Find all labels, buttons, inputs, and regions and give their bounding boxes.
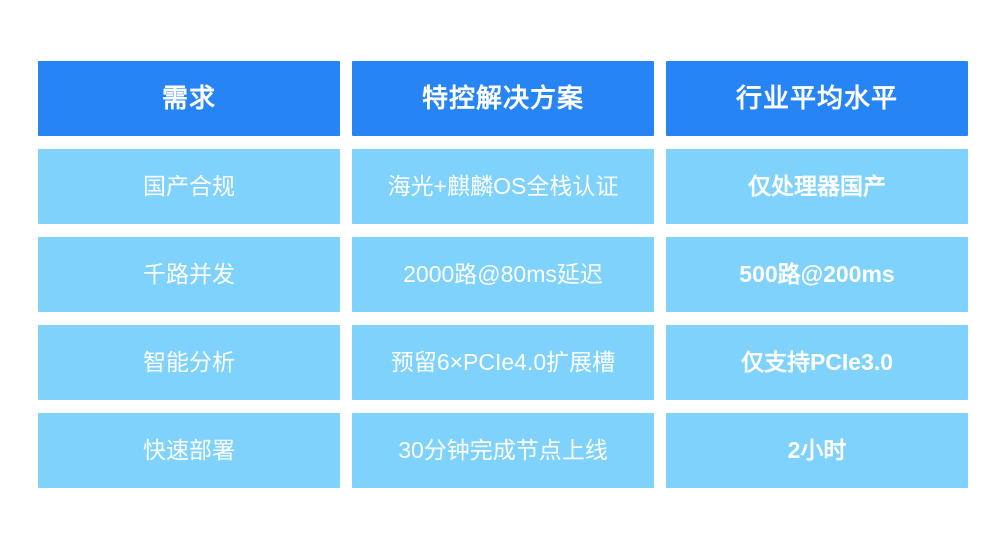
cell-requirement: 千路并发: [38, 237, 340, 312]
table-row: 智能分析 预留6×PCIe4.0扩展槽 仅支持PCIe3.0: [38, 325, 968, 400]
cell-requirement: 快速部署: [38, 413, 340, 488]
cell-industry: 2小时: [666, 413, 968, 488]
cell-requirement: 国产合规: [38, 149, 340, 224]
cell-industry: 仅支持PCIe3.0: [666, 325, 968, 400]
table-header-row: 需求 特控解决方案 行业平均水平: [38, 61, 968, 136]
header-cell-requirement: 需求: [38, 61, 340, 136]
cell-solution: 2000路@80ms延迟: [352, 237, 654, 312]
table-row: 千路并发 2000路@80ms延迟 500路@200ms: [38, 237, 968, 312]
cell-solution: 30分钟完成节点上线: [352, 413, 654, 488]
cell-requirement: 智能分析: [38, 325, 340, 400]
cell-solution: 预留6×PCIe4.0扩展槽: [352, 325, 654, 400]
table-row: 国产合规 海光+麒麟OS全栈认证 仅处理器国产: [38, 149, 968, 224]
comparison-table: 需求 特控解决方案 行业平均水平 国产合规 海光+麒麟OS全栈认证 仅处理器国产…: [38, 61, 968, 487]
header-cell-industry: 行业平均水平: [666, 61, 968, 136]
table-row: 快速部署 30分钟完成节点上线 2小时: [38, 413, 968, 488]
cell-industry: 500路@200ms: [666, 237, 968, 312]
cell-industry: 仅处理器国产: [666, 149, 968, 224]
header-cell-solution: 特控解决方案: [352, 61, 654, 136]
cell-solution: 海光+麒麟OS全栈认证: [352, 149, 654, 224]
